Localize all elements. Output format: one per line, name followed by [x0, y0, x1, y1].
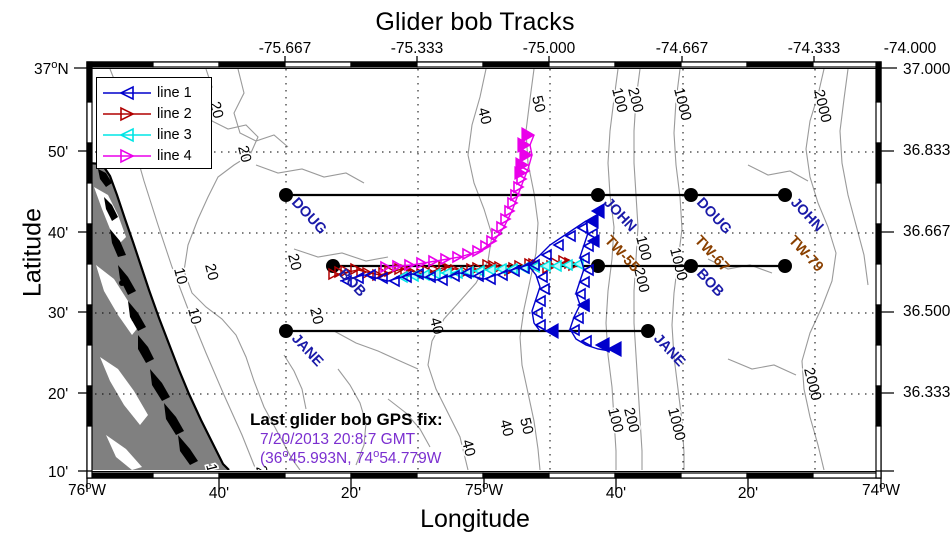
- top-tick-2: -75.000: [523, 40, 576, 58]
- gps-fix-annotation: Last glider bob GPS fix: 7/20/2013 20:8:…: [250, 410, 540, 468]
- gps-fix-time: 7/20/2013 20:8:7 GMT: [260, 431, 540, 449]
- top-tick-0: -75.667: [259, 40, 312, 58]
- left-tick-1: 50': [48, 144, 68, 162]
- right-tick-0: 37.000: [903, 61, 950, 79]
- left-tick-3: 30': [48, 305, 68, 323]
- station-label-john-79: JOHN: [787, 195, 826, 235]
- legend-label-line-2: line 2: [157, 106, 192, 122]
- station-label-john-55: JOHN: [600, 195, 639, 235]
- legend-item-0[interactable]: line 1: [101, 82, 211, 103]
- bottom-tick-4: 40': [606, 485, 626, 503]
- page-title: Glider bob Tracks: [0, 8, 950, 37]
- left-tick-4: 20': [48, 386, 68, 404]
- right-tick-2: 36.667: [903, 223, 950, 241]
- legend-item-1[interactable]: line 2: [101, 103, 211, 124]
- station-label-doug-east: DOUG: [693, 195, 734, 238]
- right-tick-1: 36.833: [903, 142, 950, 160]
- top-tick-3: -74.667: [656, 40, 709, 58]
- legend-marker-line-3-icon: [101, 127, 153, 143]
- bottom-tick-6: 74oW: [862, 482, 900, 500]
- track-line-2: [329, 256, 580, 280]
- legend-label-line-4: line 4: [157, 148, 192, 164]
- top-tick-5: -74.000: [884, 40, 937, 58]
- bottom-tick-5: 20': [738, 485, 758, 503]
- track-line-1: [340, 204, 621, 356]
- svg-text:20: 20: [284, 252, 305, 272]
- svg-text:1000: 1000: [664, 406, 689, 442]
- station-label-jane-west: JANE: [288, 331, 326, 370]
- svg-text:40: 40: [474, 106, 495, 126]
- gps-fix-heading: Last glider bob GPS fix:: [250, 410, 540, 430]
- bottom-tick-0: 76oW: [68, 482, 106, 500]
- gps-fix-position: (36o45.993N, 74o54.779W: [260, 450, 540, 468]
- legend-marker-line-4-icon: [101, 148, 153, 164]
- svg-text:10: 10: [184, 306, 205, 326]
- legend-marker-line-1-icon: [101, 85, 153, 101]
- left-tick-0: 37oN: [34, 61, 69, 79]
- legend-item-2[interactable]: line 3: [101, 124, 211, 145]
- svg-text:50: 50: [528, 94, 549, 114]
- left-tick-5: 10': [48, 464, 68, 482]
- bottom-tick-2: 20': [341, 485, 361, 503]
- legend-item-3[interactable]: line 4: [101, 145, 211, 166]
- track-line-4: [381, 128, 534, 272]
- bottom-tick-1: 40': [209, 485, 229, 503]
- legend-marker-line-2-icon: [101, 106, 153, 122]
- x-axis-label: Longitude: [0, 505, 950, 534]
- station-labels: DOUG BOB JANE JOHN DOUG JOHN BOB JANE TW…: [288, 195, 826, 370]
- legend-label-line-1: line 1: [157, 85, 192, 101]
- y-axis-label: Latitude: [19, 158, 48, 348]
- svg-text:20: 20: [201, 262, 222, 282]
- svg-text:2000: 2000: [800, 366, 825, 402]
- svg-text:1000: 1000: [670, 86, 695, 122]
- svg-text:20: 20: [306, 306, 327, 326]
- left-tick-2: 40': [48, 225, 68, 243]
- top-tick-4: -74.333: [788, 40, 841, 58]
- station-label-doug-west: DOUG: [288, 195, 329, 238]
- right-tick-3: 36.500: [903, 303, 950, 321]
- bottom-tick-3: 75oW: [465, 482, 503, 500]
- right-tick-4: 36.333: [903, 384, 950, 402]
- svg-text:10: 10: [170, 266, 191, 286]
- svg-text:40: 40: [426, 316, 447, 336]
- svg-text:2000: 2000: [810, 88, 835, 124]
- legend-label-line-3: line 3: [157, 127, 192, 143]
- top-tick-1: -75.333: [391, 40, 444, 58]
- legend[interactable]: line 1 line 2 line 3 line 4: [96, 77, 212, 169]
- svg-text:20: 20: [234, 144, 255, 164]
